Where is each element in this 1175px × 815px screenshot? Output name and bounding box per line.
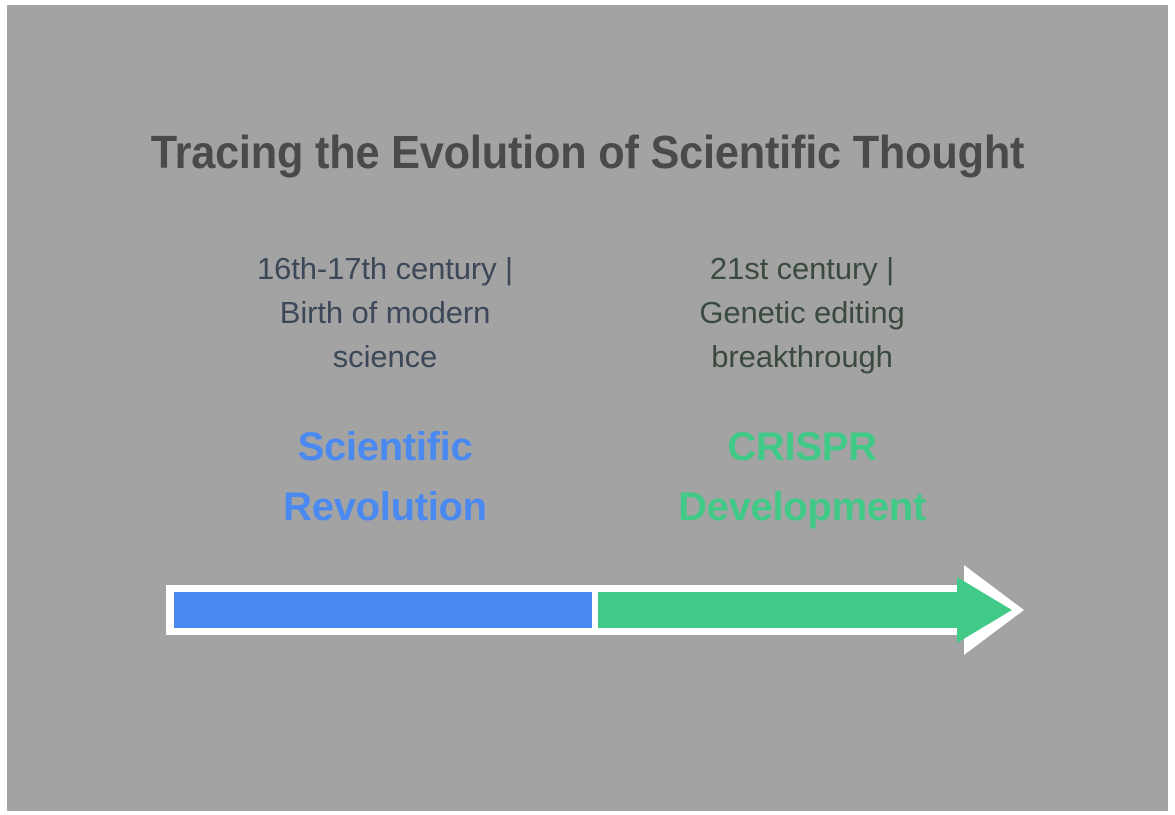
timeline-arrow-svg xyxy=(164,563,1026,657)
arrow-segment-scientific-revolution[interactable] xyxy=(174,592,592,628)
timeline-description: 21st century | Genetic editing breakthro… xyxy=(627,247,977,379)
timeline-column-crispr-development: 21st century | Genetic editing breakthro… xyxy=(627,247,977,537)
event-label-line-2: Development xyxy=(627,477,977,537)
description-line-2: Birth of modern xyxy=(195,291,575,335)
timeline-column-scientific-revolution: 16th-17th century | Birth of modern scie… xyxy=(195,247,575,537)
description-line-1: 16th-17th century | xyxy=(195,247,575,291)
event-label-line-2: Revolution xyxy=(195,477,575,537)
slide-canvas: Tracing the Evolution of Scientific Thou… xyxy=(7,5,1168,811)
page-title: Tracing the Evolution of Scientific Thou… xyxy=(42,128,1133,176)
slide-root: Tracing the Evolution of Scientific Thou… xyxy=(0,0,1175,815)
description-line-3: science xyxy=(195,335,575,379)
event-label-line-1: CRISPR xyxy=(627,417,977,477)
description-line-2: Genetic editing xyxy=(627,291,977,335)
timeline-event-label: CRISPR Development xyxy=(627,417,977,537)
timeline-arrow: Scientific Revolution CRISPR Development xyxy=(164,563,1026,657)
description-line-3: breakthrough xyxy=(627,335,977,379)
event-label-line-1: Scientific xyxy=(195,417,575,477)
timeline-event-label: Scientific Revolution xyxy=(195,417,575,537)
timeline-description: 16th-17th century | Birth of modern scie… xyxy=(195,247,575,379)
description-line-1: 21st century | xyxy=(627,247,977,291)
